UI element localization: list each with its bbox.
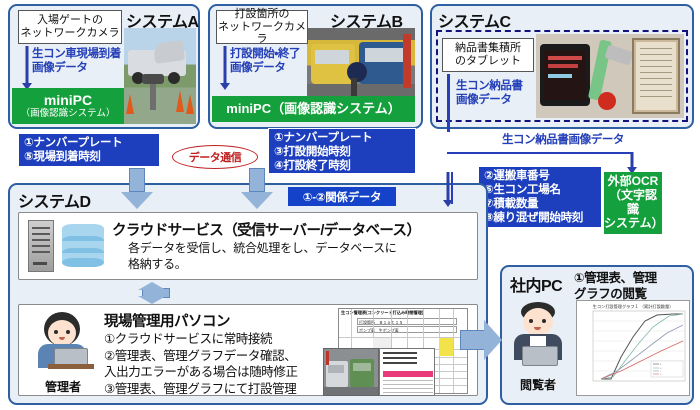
pump-truck-photo (307, 28, 415, 96)
concrete-mixer-truck-photo (124, 28, 196, 124)
diagram-canvas: システムA 入場ゲートの ネットワークカメラ 生コン車現場到着 画像データ mi… (0, 0, 700, 410)
system-c-tablet-box: 納品書集積所 のタブレット (442, 38, 534, 72)
cloud-service-title: クラウドサービス（受信サーバー/データベース） (112, 219, 420, 240)
system-c-flow-label: 生コン納品書 画像データ (456, 80, 542, 108)
system-b-flow-label: 打設開始・終了 画像データ (230, 48, 310, 76)
manager-avatar (30, 310, 96, 378)
slip-image-data-label: 生コン納品書画像データ (468, 134, 658, 148)
chart-svg: AB CD (577, 301, 691, 397)
viewer-avatar (508, 300, 570, 372)
system-a-flow-arrow (22, 46, 32, 90)
slip-data-to-ocr-arrow (627, 152, 637, 174)
data-from-b-box: ①ナンバープレート ③打設開始時刻 ④打設終了時刻 (268, 128, 416, 174)
system-c-title: システムC (438, 8, 511, 32)
database-icon (62, 224, 104, 270)
server-icon (28, 220, 54, 272)
office-pc-title: 社内PC (510, 272, 562, 296)
field-pc-lines: ①クラウドサービスに常時接続 ②管理表、管理グラフデータ確認、 入出力エラーがあ… (104, 331, 334, 398)
ocr-line2: （文字認識 (604, 189, 662, 217)
system-a-flow-label: 生コン車現場到着 画像データ (32, 48, 124, 76)
system-a-minipc: miniPC （画像認識システム） (12, 88, 124, 124)
spreadsheet-title: 生コン管理表(コンクリート打込み時間管理) (341, 310, 465, 316)
external-ocr-box: 外部OCR （文字認識 システム） (604, 172, 662, 234)
office-pc-action: ①管理表、管理 グラフの閲覧 (574, 270, 692, 303)
system-b-camera-box: 打設箇所の ネットワークカメラ (216, 10, 308, 44)
manager-caption: 管理者 (30, 378, 96, 395)
system-a-to-cloud-arrow (120, 168, 154, 208)
data-communication-oval: データ通信 (172, 145, 258, 169)
ocr-data-down-line-2 (451, 172, 453, 204)
system-a-minipc-sub: （画像認識システム） (21, 109, 116, 120)
system-a-minipc-main: miniPC (44, 92, 92, 108)
cloud-service-description: 各データを受信し、統合処理をし、データベースに 格納する。 (128, 240, 468, 272)
field-pc-title: 現場管理用パソコン (104, 310, 230, 331)
relation-data-label: ①-②関係データ (288, 187, 396, 206)
management-chart-screenshot: 生コン打設管理グラフ１ （累計打設数量） (576, 300, 690, 396)
ocr-line3: システム） (604, 217, 662, 231)
data-from-ocr-box: ②運搬車番号 ⑥生コン工場名 ⑦積載数量 ⑧練り混ぜ開始時刻 (478, 166, 602, 228)
data-from-a-box: ①ナンバープレート ⑤現場到着時刻 (18, 133, 160, 167)
system-c-flow-line (447, 74, 450, 132)
tablet-and-delivery-slip-photo (536, 34, 684, 118)
system-b-flow-arrow (220, 46, 230, 90)
system-b-minipc-main: miniPC（画像認識システム） (226, 102, 400, 117)
cloud-fieldpc-bidirectional-arrow (128, 282, 184, 304)
viewer-caption: 閲覧者 (506, 376, 570, 393)
inset-popup-window (379, 348, 435, 396)
system-d-title: システムD (18, 188, 91, 212)
system-b-to-cloud-arrow (240, 168, 274, 208)
system-b-minipc: miniPC（画像認識システム） (212, 96, 415, 122)
slip-data-horizontal-line (447, 152, 632, 154)
system-a-camera-box: 入場ゲートの ネットワークカメラ (18, 10, 122, 44)
inset-truck-photo (323, 348, 379, 396)
systemd-to-officepc-arrow (460, 320, 504, 360)
